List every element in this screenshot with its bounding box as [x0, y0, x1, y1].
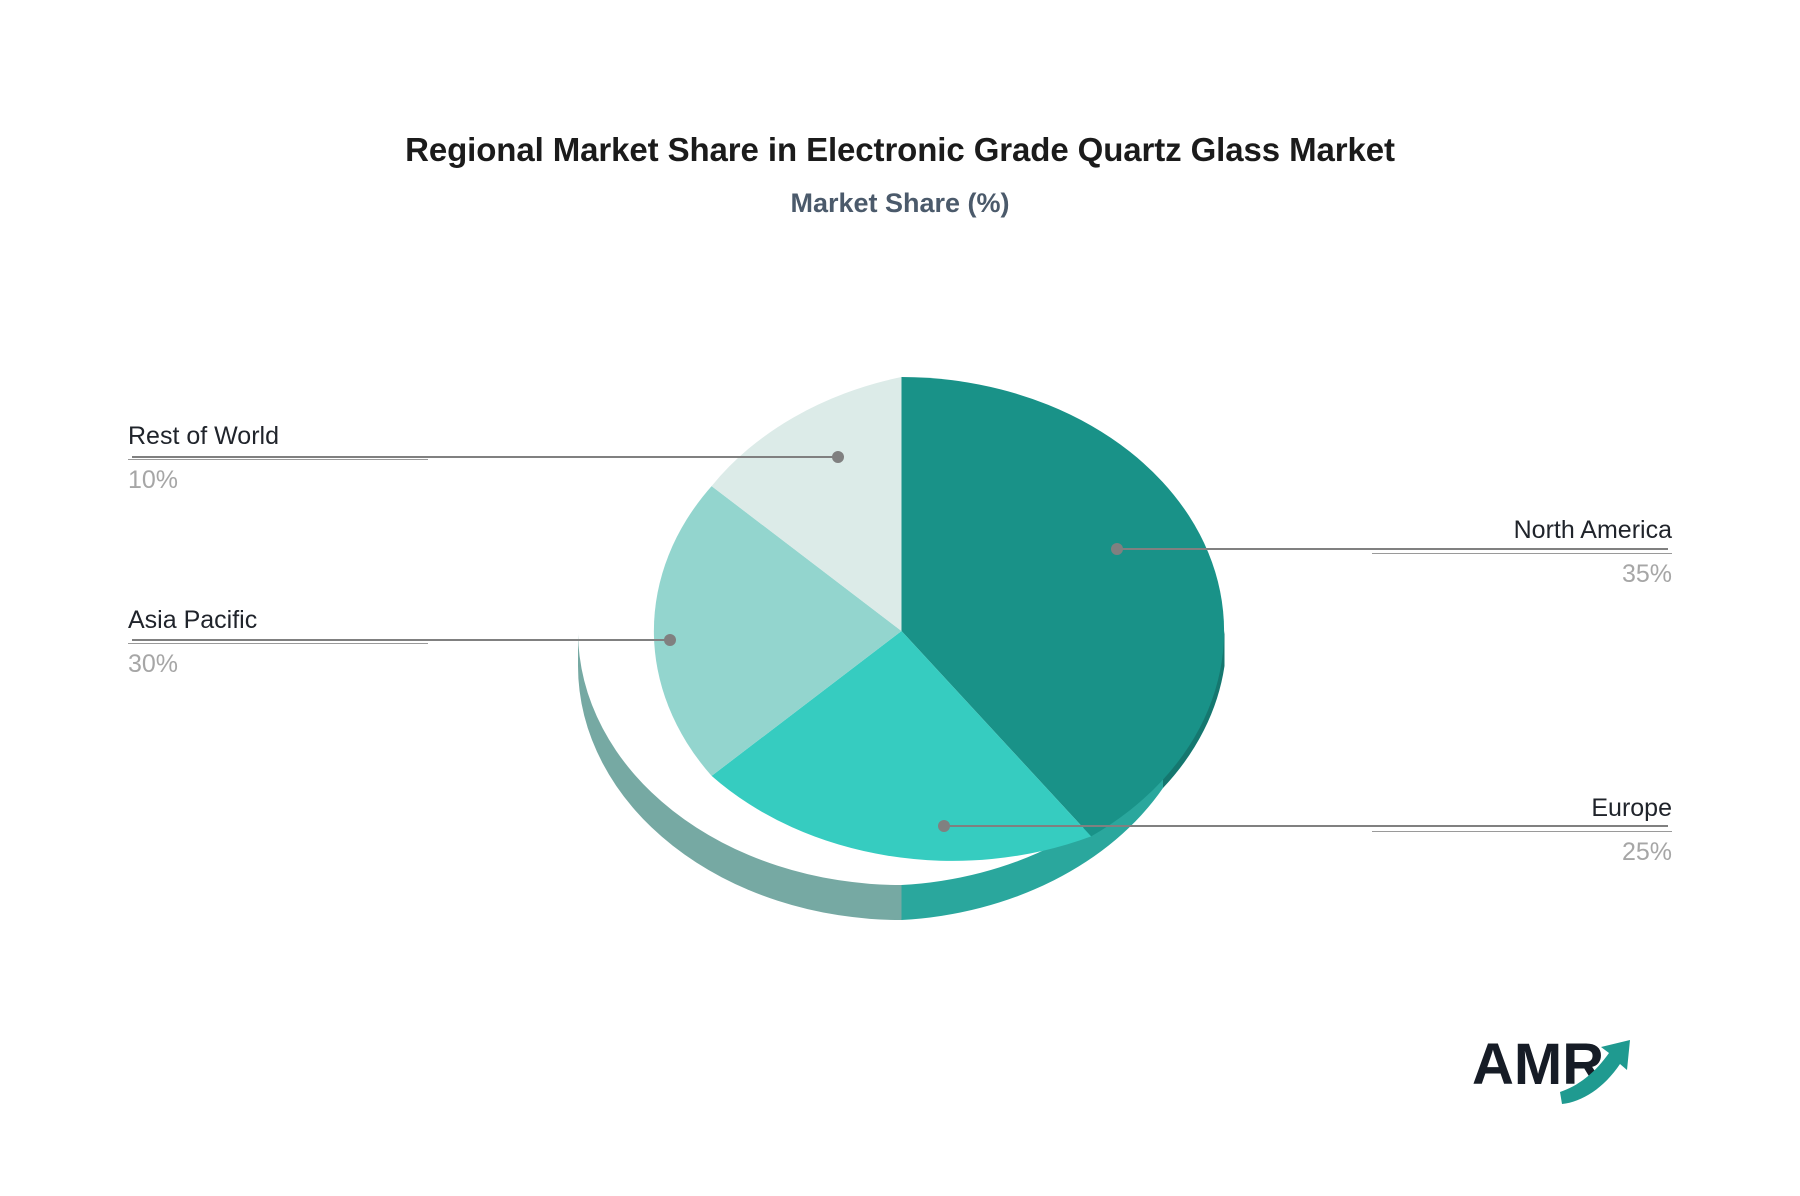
callout-divider: [128, 459, 428, 460]
callout-divider: [1372, 831, 1672, 832]
callout-north-america: North America 35%: [1372, 515, 1672, 589]
pie-svg: [0, 0, 1800, 1196]
callout-europe: Europe 25%: [1372, 793, 1672, 867]
callout-value-europe: 25%: [1372, 837, 1672, 868]
callout-value-rest-of-world: 10%: [128, 465, 428, 496]
chart-canvas: Regional Market Share in Electronic Grad…: [0, 0, 1800, 1196]
callout-divider: [128, 643, 428, 644]
callout-label-north-america: North America: [1372, 515, 1672, 546]
callout-label-europe: Europe: [1372, 793, 1672, 824]
callout-value-asia-pacific: 30%: [128, 649, 428, 680]
pie-chart: [0, 0, 1800, 1196]
callout-label-rest-of-world: Rest of World: [128, 421, 428, 452]
callout-asia-pacific: Asia Pacific 30%: [128, 605, 428, 679]
callout-divider: [1372, 553, 1672, 554]
amr-logo-svg: AMR: [1470, 1022, 1650, 1112]
callout-label-asia-pacific: Asia Pacific: [128, 605, 428, 636]
amr-logo: AMR: [1470, 1022, 1650, 1112]
callout-rest-of-world: Rest of World 10%: [128, 421, 428, 495]
callout-value-north-america: 35%: [1372, 559, 1672, 590]
